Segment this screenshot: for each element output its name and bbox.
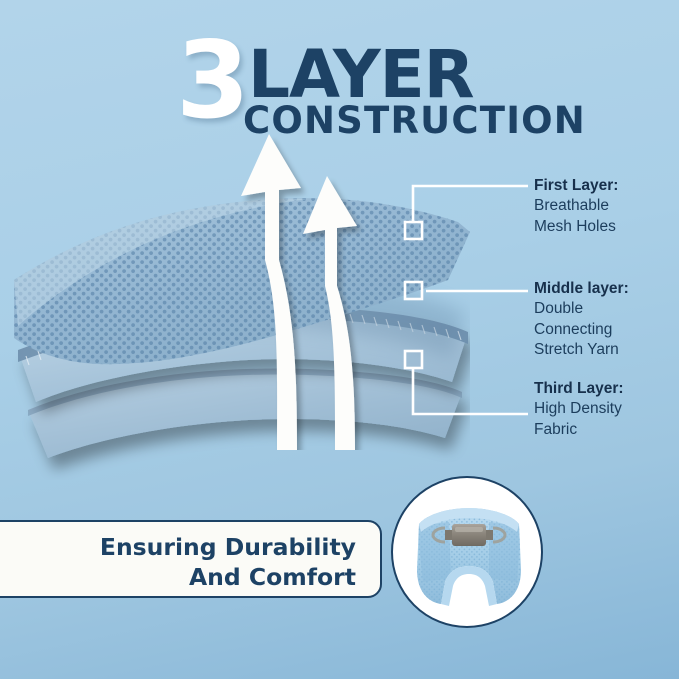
callout-body: Double Connecting Stretch Yarn xyxy=(534,299,679,360)
callout-body: Breathable Mesh Holes xyxy=(534,196,679,237)
tagline-text: Ensuring Durability And Comfort xyxy=(0,532,356,592)
airflow-arrows xyxy=(185,120,385,450)
title-number: 3 xyxy=(176,28,245,134)
infographic-canvas: 3 LAYER CONSTRUCTION First Layer: Breath… xyxy=(0,0,679,679)
callout-title: Third Layer: xyxy=(534,379,679,399)
callout-third-layer: Third Layer: High Density Fabric xyxy=(534,379,679,440)
callout-body: High Density Fabric xyxy=(534,399,679,440)
callout-middle-layer: Middle layer: Double Connecting Stretch … xyxy=(534,279,679,361)
tagline-banner: Ensuring Durability And Comfort xyxy=(0,520,382,598)
callout-title: First Layer: xyxy=(534,176,679,196)
airflow-arrow-left xyxy=(241,134,301,450)
callout-first-layer: First Layer: Breathable Mesh Holes xyxy=(534,176,679,237)
title-word-layer: LAYER xyxy=(248,42,474,108)
product-photo-circle xyxy=(391,476,543,628)
harness-body xyxy=(393,478,543,628)
dog-harness-illustration xyxy=(393,478,543,628)
airflow-arrow-right xyxy=(303,176,357,450)
callout-title: Middle layer: xyxy=(534,279,679,299)
